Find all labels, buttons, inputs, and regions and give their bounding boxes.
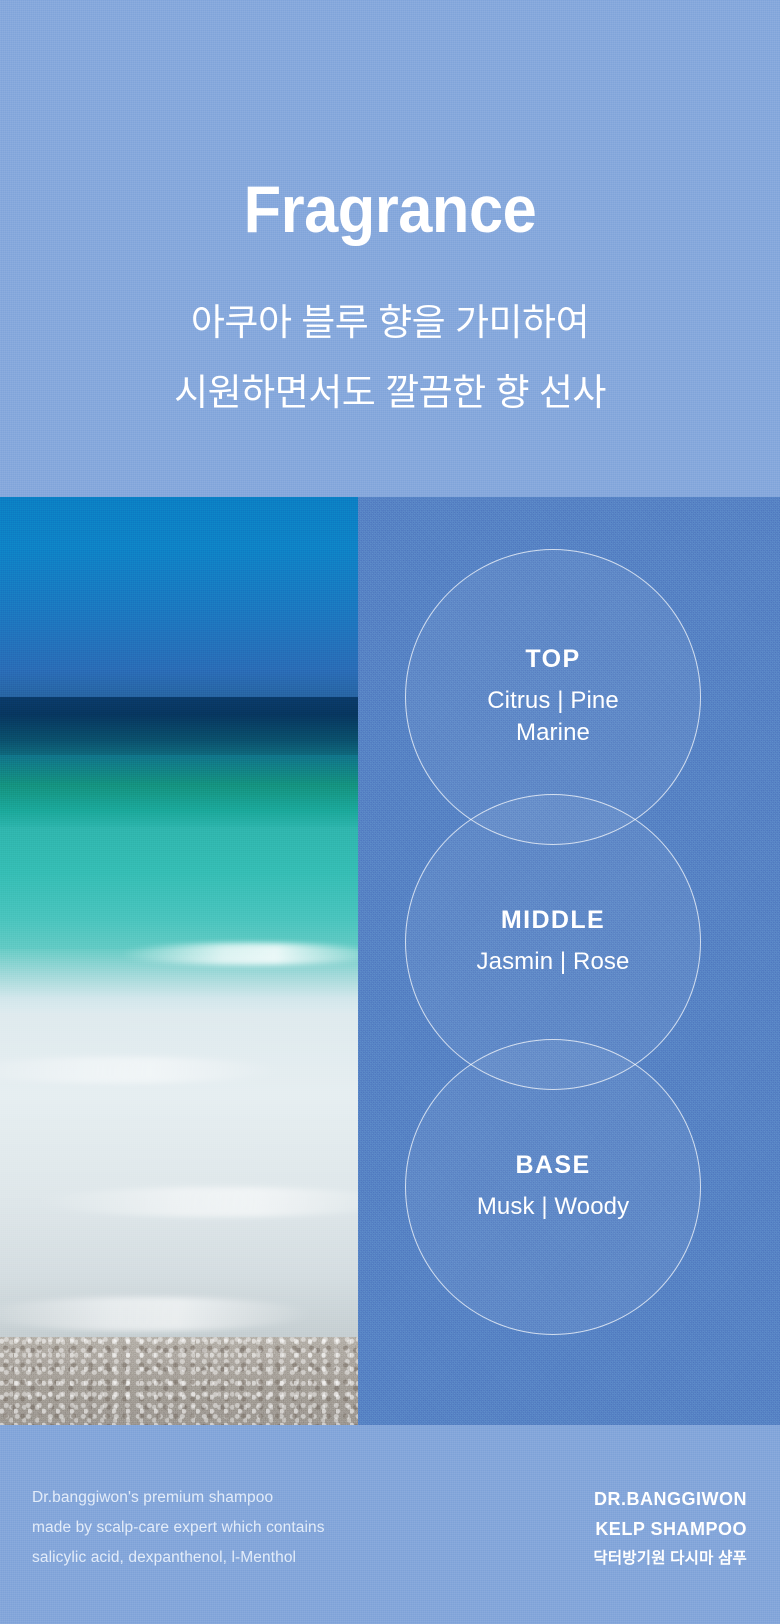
fragrance-poster: Fragrance 아쿠아 블루 향을 가미하여 시원하면서도 깔끔한 향 선사… <box>0 0 780 1624</box>
tier-notes-top: Citrus | Pine Marine <box>487 685 619 749</box>
tier-notes-middle: Jasmin | Rose <box>477 946 630 978</box>
footer-description-line-2: made by scalp-care expert which contains <box>32 1513 325 1543</box>
photo-sky-band <box>0 497 358 702</box>
tier-notes-middle-line-1: Jasmin | Rose <box>477 946 630 978</box>
footer-section: Dr.banggiwon's premium shampoo made by s… <box>0 1425 780 1624</box>
footer-description-line-3: salicylic acid, dexpanthenol, l-Menthol <box>32 1543 325 1573</box>
header-subtitle: 아쿠아 블루 향을 가미하여 시원하면서도 깔끔한 향 선사 <box>0 288 780 428</box>
page-title: Fragrance <box>27 176 752 242</box>
fragrance-circle-base: BASE Musk | Woody <box>405 1039 701 1335</box>
header-section: Fragrance 아쿠아 블루 향을 가미하여 시원하면서도 깔끔한 향 선사 <box>0 0 780 497</box>
subtitle-line-1: 아쿠아 블루 향을 가미하여 <box>0 288 780 358</box>
tier-label-top: TOP <box>525 645 580 674</box>
tier-notes-base-line-1: Musk | Woody <box>477 1191 629 1223</box>
brand-name-korean: 닥터방기원 다시마 샴푸 <box>593 1544 747 1573</box>
brand-product: KELP SHAMPOO <box>593 1514 747 1544</box>
brand-block: DR.BANGGIWON KELP SHAMPOO 닥터방기원 다시마 샴푸 <box>593 1484 747 1573</box>
photo-mid-sea-band <box>0 755 358 830</box>
tier-notes-base: Musk | Woody <box>477 1191 629 1223</box>
photo-pebble-beach-band <box>0 1337 358 1425</box>
tier-label-middle: MIDDLE <box>501 906 605 935</box>
tier-notes-top-line-2: Marine <box>487 717 619 749</box>
photo-turquoise-band <box>0 827 358 957</box>
brand-name: DR.BANGGIWON <box>593 1484 747 1514</box>
subtitle-line-2: 시원하면서도 깔끔한 향 선사 <box>0 358 780 428</box>
tier-notes-top-line-1: Citrus | Pine <box>487 685 619 717</box>
ocean-photo <box>0 497 358 1425</box>
photo-deep-sea-band <box>0 697 358 757</box>
tier-label-base: BASE <box>515 1151 590 1180</box>
footer-description-line-1: Dr.banggiwon's premium shampoo <box>32 1483 325 1513</box>
footer-description: Dr.banggiwon's premium shampoo made by s… <box>32 1483 325 1573</box>
fragrance-notes-panel: TOP Citrus | Pine Marine MIDDLE Jasmin |… <box>358 497 780 1425</box>
